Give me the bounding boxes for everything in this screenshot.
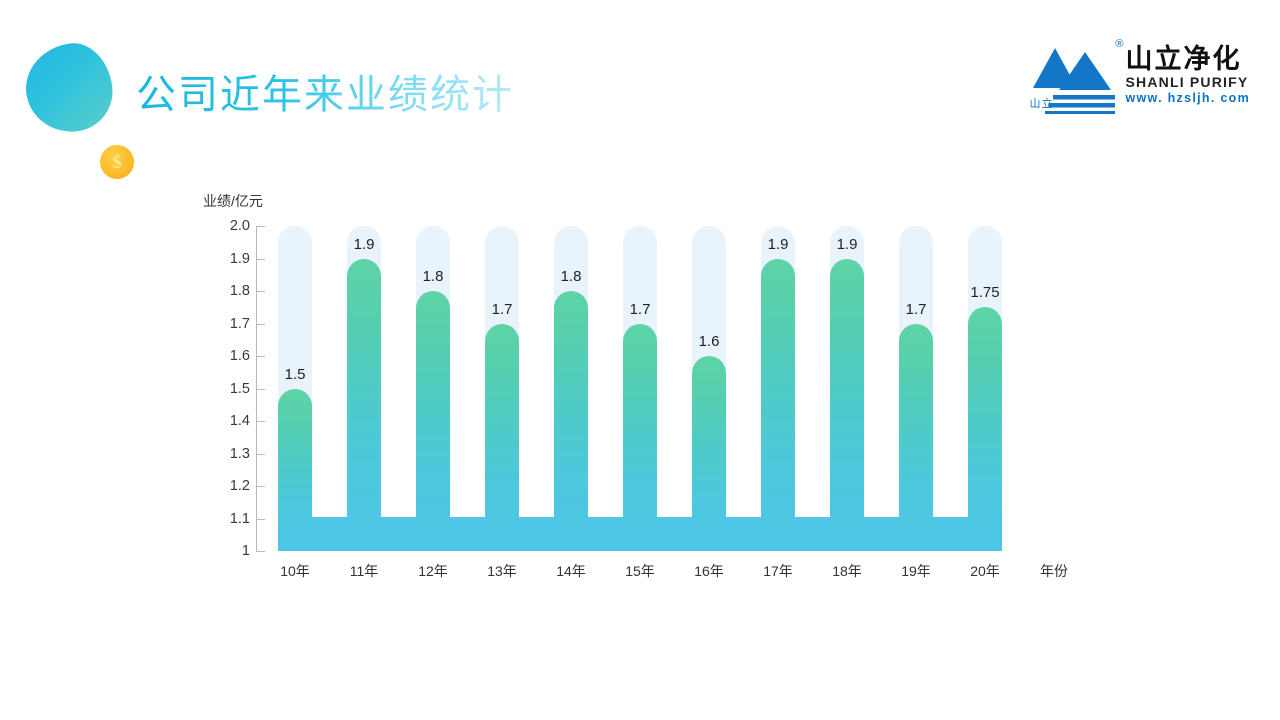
bar-fill bbox=[692, 356, 726, 551]
y-tick-mark bbox=[256, 226, 265, 227]
bar-value-label: 1.6 bbox=[699, 333, 720, 350]
y-tick-mark bbox=[256, 551, 265, 552]
y-tick-label: 1.3 bbox=[230, 446, 250, 462]
y-tick-mark bbox=[256, 486, 265, 487]
y-tick-label: 1.4 bbox=[230, 413, 250, 429]
x-tick-label: 11年 bbox=[350, 561, 379, 581]
bar-fill bbox=[347, 259, 381, 552]
y-tick-label: 1.6 bbox=[230, 348, 250, 364]
bar-value-label: 1.7 bbox=[906, 301, 927, 318]
bar-fill bbox=[761, 259, 795, 552]
performance-bar-chart: 业绩/亿元 年份 2.01.91.81.71.61.51.41.31.21.11… bbox=[0, 0, 1280, 720]
y-tick-mark bbox=[256, 291, 265, 292]
bar-value-label: 1.5 bbox=[285, 366, 306, 383]
bar-column[interactable]: 1.75 bbox=[968, 226, 1002, 551]
bar-column[interactable]: 1.7 bbox=[485, 226, 519, 551]
x-tick-label: 12年 bbox=[418, 561, 448, 581]
y-tick-label: 1.8 bbox=[230, 283, 250, 299]
x-tick-label: 13年 bbox=[487, 561, 517, 581]
y-tick-mark bbox=[256, 324, 265, 325]
bar-fill bbox=[485, 324, 519, 552]
y-tick-label: 1 bbox=[242, 543, 250, 559]
x-tick-label: 15年 bbox=[625, 561, 655, 581]
x-tick-label: 17年 bbox=[763, 561, 793, 581]
bar-value-label: 1.9 bbox=[768, 236, 789, 253]
y-tick-label: 2.0 bbox=[230, 218, 250, 234]
bar-column[interactable]: 1.6 bbox=[692, 226, 726, 551]
y-tick-mark bbox=[256, 259, 265, 260]
bar-value-label: 1.75 bbox=[970, 284, 999, 301]
bar-value-label: 1.8 bbox=[561, 268, 582, 285]
bar-column[interactable]: 1.5 bbox=[278, 226, 312, 551]
bar-value-label: 1.7 bbox=[630, 301, 651, 318]
bar-fill bbox=[554, 291, 588, 551]
bar-fill bbox=[968, 307, 1002, 551]
bar-column[interactable]: 1.9 bbox=[830, 226, 864, 551]
y-tick-mark bbox=[256, 421, 265, 422]
bar-fill bbox=[830, 259, 864, 552]
x-tick-label: 19年 bbox=[901, 561, 931, 581]
y-tick-label: 1.5 bbox=[230, 381, 250, 397]
bar-fill bbox=[278, 389, 312, 552]
y-tick-mark bbox=[256, 389, 265, 390]
x-tick-label: 16年 bbox=[694, 561, 724, 581]
bar-fill bbox=[899, 324, 933, 552]
slide-canvas: $ 公司近年来业绩统计 ® 山立 山立净化 SHANLI PURIFY www.… bbox=[0, 0, 1280, 720]
bar-fill bbox=[623, 324, 657, 552]
bar-fill bbox=[416, 291, 450, 551]
bar-value-label: 1.9 bbox=[354, 236, 375, 253]
x-tick-label: 20年 bbox=[970, 561, 1000, 581]
bar-column[interactable]: 1.9 bbox=[761, 226, 795, 551]
bar-column[interactable]: 1.9 bbox=[347, 226, 381, 551]
bar-column[interactable]: 1.8 bbox=[416, 226, 450, 551]
y-tick-label: 1.7 bbox=[230, 316, 250, 332]
x-axis-title: 年份 bbox=[1040, 561, 1068, 581]
bar-value-label: 1.7 bbox=[492, 301, 513, 318]
y-tick-mark bbox=[256, 519, 265, 520]
y-axis-title: 业绩/亿元 bbox=[203, 191, 263, 211]
bar-column[interactable]: 1.7 bbox=[623, 226, 657, 551]
x-tick-label: 14年 bbox=[556, 561, 586, 581]
y-tick-label: 1.1 bbox=[230, 511, 250, 527]
x-tick-label: 18年 bbox=[832, 561, 862, 581]
bar-column[interactable]: 1.8 bbox=[554, 226, 588, 551]
y-tick-mark bbox=[256, 454, 265, 455]
bar-value-label: 1.9 bbox=[837, 236, 858, 253]
bar-value-label: 1.8 bbox=[423, 268, 444, 285]
y-tick-label: 1.2 bbox=[230, 478, 250, 494]
y-tick-mark bbox=[256, 356, 265, 357]
y-tick-label: 1.9 bbox=[230, 251, 250, 267]
x-tick-label: 10年 bbox=[280, 561, 310, 581]
bar-column[interactable]: 1.7 bbox=[899, 226, 933, 551]
